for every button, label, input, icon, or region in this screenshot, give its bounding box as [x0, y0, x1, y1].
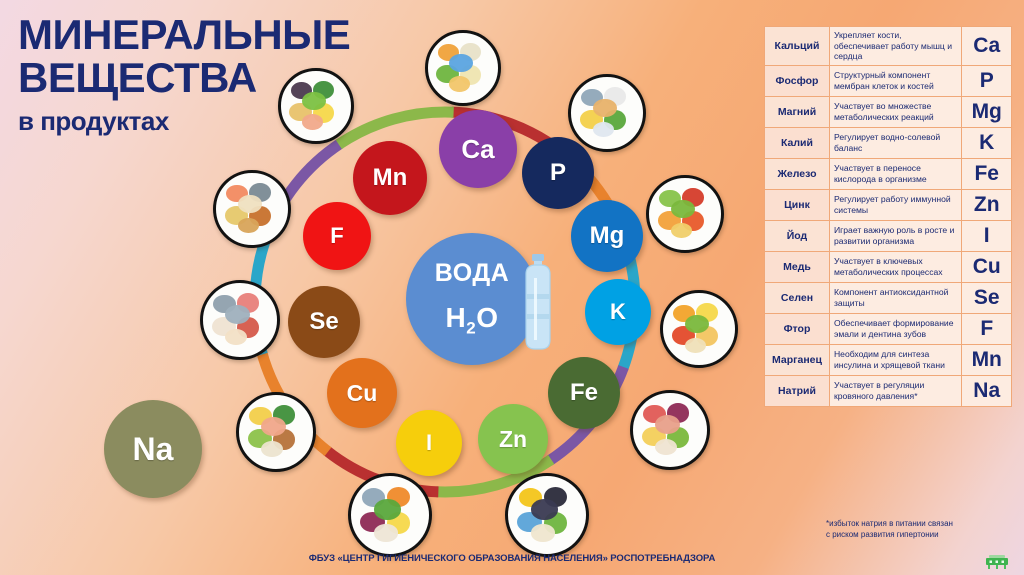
plate-contents: [633, 393, 707, 467]
element-bubble-k[interactable]: K: [585, 279, 651, 345]
mineral-description: Структурный компонент мембран клеток и к…: [829, 66, 961, 97]
mineral-symbol: K: [962, 128, 1012, 159]
mineral-symbol: F: [962, 314, 1012, 345]
food-item: [671, 223, 693, 239]
element-symbol: Mn: [373, 164, 408, 192]
mineral-name: Селен: [765, 283, 830, 314]
plate-contents: [571, 77, 643, 149]
water-bottle-icon: [513, 252, 563, 352]
plate-fish-carrot-beet: [348, 473, 432, 557]
footnote-line-2: с риском развития гипертонии: [826, 530, 1016, 541]
water-label: ВОДА: [435, 259, 509, 288]
table-row: КалийРегулирует водно-солевой балансK: [765, 128, 1012, 159]
mineral-description: Обеспечивает формирование эмали и дентин…: [829, 314, 961, 345]
plate-sardine-meat-garlic: [200, 280, 280, 360]
mineral-symbol: Fe: [962, 159, 1012, 190]
element-bubble-mn[interactable]: Mn: [353, 141, 427, 215]
green-building-logo: [984, 553, 1010, 570]
element-symbol: I: [426, 430, 432, 456]
plate-contents: [649, 178, 721, 250]
food-item: [302, 92, 326, 110]
plate-eggplant-cucumber: [278, 68, 354, 144]
mineral-name: Натрий: [765, 376, 830, 407]
plate-contents: [216, 173, 288, 245]
element-bubble-f[interactable]: F: [303, 202, 371, 270]
table-row: ЦинкРегулирует работу иммунной системыZn: [765, 190, 1012, 221]
plate-contents: [239, 395, 313, 469]
table-row: СеленКомпонент антиоксидантной защитыSe: [765, 283, 1012, 314]
mineral-symbol: Cu: [962, 252, 1012, 283]
plate-contents: [508, 476, 586, 554]
element-symbol: P: [550, 159, 566, 187]
plate-contents: [203, 283, 277, 357]
element-symbol: Zn: [499, 426, 527, 453]
food-item: [655, 439, 677, 455]
mineral-description: Участвует в переносе кислорода в организ…: [829, 159, 961, 190]
mineral-description: Необходим для синтеза инсулина и хрящево…: [829, 345, 961, 376]
plate-sunflower-milk-berry: [505, 473, 589, 557]
food-item: [374, 524, 397, 541]
element-symbol: Ca: [461, 134, 494, 165]
food-item: [238, 218, 260, 234]
mineral-symbol: Ca: [962, 27, 1012, 66]
mineral-description: Участвует во множестве метаболических ре…: [829, 97, 961, 128]
mineral-symbol: Mn: [962, 345, 1012, 376]
plate-shrimp-fish-potato: [213, 170, 291, 248]
mineral-name: Медь: [765, 252, 830, 283]
mineral-name: Магний: [765, 97, 830, 128]
element-symbol: Mg: [590, 222, 625, 250]
element-bubble-na[interactable]: Na: [104, 400, 202, 498]
food-item: [225, 329, 247, 345]
title-line-1: МИНЕРАЛЬНЫЕ: [18, 14, 438, 57]
plate-meat-beet-peas: [630, 390, 710, 470]
ring-segment: [339, 112, 454, 144]
table-row: МарганецНеобходим для синтеза инсулина и…: [765, 345, 1012, 376]
mineral-description: Регулирует работу иммунной системы: [829, 190, 961, 221]
mineral-name: Калий: [765, 128, 830, 159]
mineral-description: Играет важную роль в росте и развитии ор…: [829, 221, 961, 252]
food-item: [449, 76, 470, 91]
minerals-table: КальцийУкрепляет кости, обеспечивает раб…: [764, 26, 1012, 407]
mineral-name: Железо: [765, 159, 830, 190]
element-bubble-mg[interactable]: Mg: [571, 200, 643, 272]
infographic-canvas: МИНЕРАЛЬНЫЕ ВЕЩЕСТВА в продуктах CaMnPFM…: [0, 0, 1024, 575]
plate-contents: [281, 71, 351, 141]
mineral-name: Марганец: [765, 345, 830, 376]
table-row: ФосфорСтруктурный компонент мембран клет…: [765, 66, 1012, 97]
mineral-symbol: Zn: [962, 190, 1012, 221]
element-bubble-se[interactable]: Se: [288, 286, 360, 358]
footnote-line-1: *избыток натрия в питании связан: [826, 519, 1016, 530]
table-row: НатрийУчаствует в регуляции кровяного да…: [765, 376, 1012, 407]
element-bubble-ca[interactable]: Ca: [439, 110, 517, 188]
mineral-name: Йод: [765, 221, 830, 252]
table-row: ЖелезоУчаствует в переносе кислорода в о…: [765, 159, 1012, 190]
element-symbol: Na: [133, 431, 174, 468]
plate-fruit-banana-juice: [660, 290, 738, 368]
food-item: [261, 441, 283, 457]
mineral-symbol: Se: [962, 283, 1012, 314]
plate-contents: [663, 293, 735, 365]
element-symbol: F: [330, 223, 343, 249]
mineral-name: Кальций: [765, 27, 830, 66]
plate-contents: [351, 476, 429, 554]
mineral-symbol: P: [962, 66, 1012, 97]
mineral-symbol: Na: [962, 376, 1012, 407]
mineral-name: Фосфор: [765, 66, 830, 97]
table-row: ЙодИграет важную роль в росте и развитии…: [765, 221, 1012, 252]
water-formula: H2O: [446, 302, 499, 339]
table-footnote: *избыток натрия в питании связан с риско…: [826, 519, 1016, 541]
table-row: ФторОбеспечивает формирование эмали и де…: [765, 314, 1012, 345]
table-row: МедьУчаствует в ключевых метаболических …: [765, 252, 1012, 283]
element-symbol: Se: [309, 308, 338, 336]
plate-cheese-cucumber-peas: [236, 392, 316, 472]
plate-contents: [428, 33, 498, 103]
mineral-name: Фтор: [765, 314, 830, 345]
food-item: [685, 338, 707, 354]
mineral-description: Участвует в регуляции кровяного давления…: [829, 376, 961, 407]
food-item: [302, 114, 323, 129]
plate-milk-carrot-cheese: [425, 30, 501, 106]
mineral-symbol: Mg: [962, 97, 1012, 128]
element-symbol: Fe: [570, 379, 598, 407]
mineral-symbol: I: [962, 221, 1012, 252]
food-item: [449, 54, 473, 72]
food-item: [531, 499, 558, 519]
table-row: МагнийУчаствует во множестве метаболичес…: [765, 97, 1012, 128]
element-bubble-cu[interactable]: Cu: [327, 358, 397, 428]
food-item: [593, 122, 615, 138]
mineral-description: Компонент антиоксидантной защиты: [829, 283, 961, 314]
mineral-name: Цинк: [765, 190, 830, 221]
food-item: [531, 524, 554, 541]
element-bubble-zn[interactable]: Zn: [478, 404, 548, 474]
footer-organization: ФБУЗ «ЦЕНТР ГИГИЕНИЧЕСКОГО ОБРАЗОВАНИЯ Н…: [0, 553, 1024, 564]
mineral-description: Участвует в ключевых метаболических проц…: [829, 252, 961, 283]
plate-fish-milk-corn: [568, 74, 646, 152]
element-bubble-fe[interactable]: Fe: [548, 357, 620, 429]
mineral-description: Регулирует водно-солевой баланс: [829, 128, 961, 159]
title-line-2: ВЕЩЕСТВА: [18, 57, 438, 100]
element-bubble-i[interactable]: I: [396, 410, 462, 476]
element-symbol: K: [610, 299, 626, 325]
element-symbol: Cu: [347, 380, 378, 407]
food-item: [374, 499, 401, 519]
plate-cabbage-tomato-fruit: [646, 175, 724, 253]
table-row: КальцийУкрепляет кости, обеспечивает раб…: [765, 27, 1012, 66]
mineral-description: Укрепляет кости, обеспечивает работу мыш…: [829, 27, 961, 66]
